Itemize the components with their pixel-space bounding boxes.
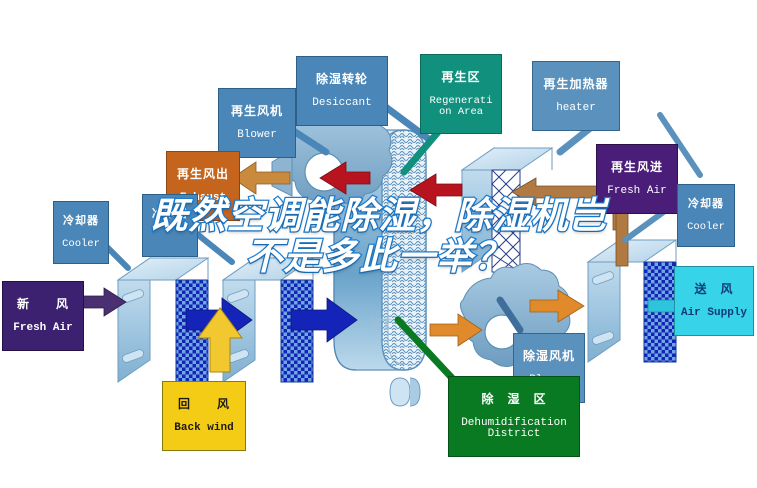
label-regeneration-blower: 再生风机 Blower	[218, 88, 296, 158]
label-regeneration-area-en: Regenerati on Area	[423, 96, 499, 118]
label-regeneration-area: 再生区 Regenerati on Area	[420, 54, 502, 134]
label-air-supply-en: Air Supply	[677, 308, 751, 320]
label-regeneration-area-cn: 再生区	[423, 71, 499, 84]
label-regeneration-fresh-air-en: Fresh Air	[599, 186, 675, 198]
label-regeneration-fresh-air-cn: 再生风进	[599, 161, 675, 174]
label-cooler-right-en: Cooler	[680, 222, 732, 233]
diagram-canvas: XT	[0, 0, 757, 488]
svg-text:XT: XT	[370, 315, 392, 334]
label-back-wind: 回 风 Back wind	[162, 381, 246, 451]
label-dehumidification-district-cn: 除 湿 区	[451, 393, 577, 406]
label-desiccant-rotor-en: Desiccant	[299, 98, 385, 110]
label-cooler-right: 冷却器 Cooler	[677, 184, 735, 247]
label-fresh-air-en: Fresh Air	[5, 323, 81, 335]
label-regeneration-blower-cn: 再生风机	[221, 105, 293, 118]
label-cooler-left-2: 冷却器 Cooler	[142, 194, 198, 257]
label-dehumidification-district-en: Dehumidification District	[451, 418, 577, 441]
label-fresh-air-cn: 新 风	[5, 298, 81, 311]
label-regeneration-blower-en: Blower	[221, 130, 293, 142]
regeneration-heater-unit	[462, 148, 552, 272]
label-regeneration-heater: 再生加热器 heater	[532, 61, 620, 131]
label-cooler-right-cn: 冷却器	[680, 199, 732, 211]
label-desiccant-rotor-cn: 除湿转轮	[299, 73, 385, 86]
label-back-wind-cn: 回 风	[165, 398, 243, 411]
label-back-wind-en: Back wind	[165, 423, 243, 435]
label-air-supply-cn: 送 风	[677, 283, 751, 296]
label-cooler-left-1-cn: 冷却器	[56, 216, 106, 228]
label-dehumidification-district: 除 湿 区 Dehumidification District	[448, 376, 580, 457]
label-fresh-air: 新 风 Fresh Air	[2, 281, 84, 351]
label-dehumidification-blower-cn: 除湿风机	[516, 350, 582, 363]
label-regeneration-fresh-air: 再生风进 Fresh Air	[596, 144, 678, 214]
label-regeneration-heater-en: heater	[535, 103, 617, 115]
label-desiccant-rotor: 除湿转轮 Desiccant	[296, 56, 388, 126]
label-cooler-left-1: 冷却器 Cooler	[53, 201, 109, 264]
label-regeneration-exhaust-cn: 再生风出	[169, 168, 237, 181]
label-cooler-left-1-en: Cooler	[56, 239, 106, 250]
label-regeneration-heater-cn: 再生加热器	[535, 78, 617, 91]
label-cooler-left-2-cn: 冷却器	[145, 209, 195, 221]
label-air-supply: 送 风 Air Supply	[674, 266, 754, 336]
